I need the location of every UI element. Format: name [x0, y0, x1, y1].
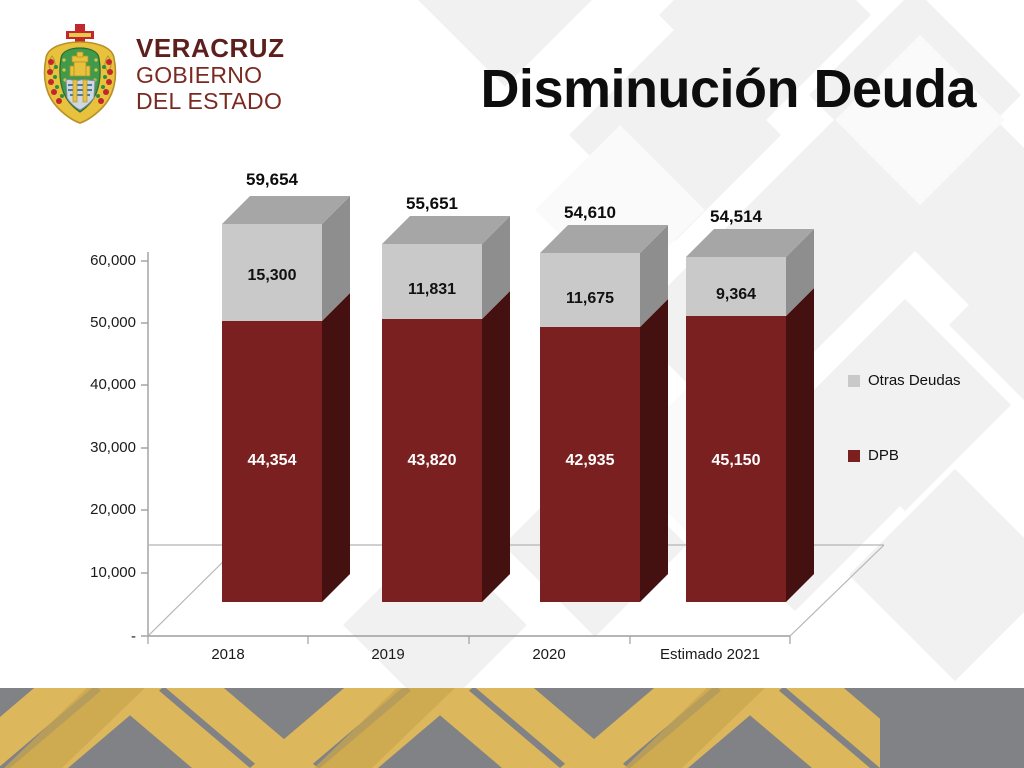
y-axis-label-zero: -: [48, 628, 136, 645]
veracruz-coat-of-arms-icon: [36, 22, 124, 126]
legend-label-dpb: DPB: [868, 447, 899, 464]
bar-total-2018: 59,654: [216, 170, 328, 190]
debt-stacked-column-chart: 60,000 50,000 40,000 30,000 20,000 10,00…: [0, 150, 1024, 670]
bar-group-2019[interactable]: [382, 216, 510, 602]
y-axis-label-10000: 10,000: [48, 564, 136, 581]
footer-decorative-band: [0, 688, 1024, 768]
x-axis-label-estimado-2021: Estimado 2021: [634, 646, 786, 663]
bar-group-2020[interactable]: [540, 225, 668, 602]
x-axis-ticks: [148, 636, 790, 644]
y-axis-label-20000: 20,000: [48, 501, 136, 518]
y-axis-ticks: [141, 261, 148, 636]
segment-label-otras-deudas-2019: 11,831: [376, 281, 488, 299]
legend-swatch-dpb: [848, 450, 860, 462]
slide-root: VERACRUZ GOBIERNO DEL ESTADO Disminución…: [0, 0, 1024, 768]
segment-label-otras-deudas-2018: 15,300: [216, 267, 328, 285]
segment-label-otras-deudas-2020: 11,675: [534, 290, 646, 308]
segment-label-dpb-2018: 44,354: [216, 452, 328, 470]
legend-label-otras-deudas: Otras Deudas: [868, 372, 961, 389]
y-axis-label-40000: 40,000: [48, 376, 136, 393]
x-axis-label-2020: 2020: [493, 646, 605, 663]
y-axis-label-60000: 60,000: [48, 252, 136, 269]
segment-label-dpb-estimado-2021: 45,150: [680, 452, 792, 470]
wordmark-line-1: VERACRUZ: [136, 35, 284, 61]
legend-item-otras-deudas[interactable]: Otras Deudas: [848, 372, 1018, 389]
segment-label-dpb-2019: 43,820: [376, 452, 488, 470]
wordmark-line-3: DEL ESTADO: [136, 90, 284, 113]
y-axis-label-50000: 50,000: [48, 314, 136, 331]
page-title: Disminución Deuda: [480, 58, 976, 120]
bar-group-2018[interactable]: [222, 196, 350, 602]
brand-wordmark: VERACRUZ GOBIERNO DEL ESTADO: [136, 35, 284, 113]
y-axis-label-30000: 30,000: [48, 439, 136, 456]
bar-total-estimado-2021: 54,514: [680, 207, 792, 227]
segment-label-dpb-2020: 42,935: [534, 452, 646, 470]
wordmark-line-2: GOBIERNO: [136, 64, 284, 87]
x-axis-label-2018: 2018: [172, 646, 284, 663]
bar-total-2019: 55,651: [376, 194, 488, 214]
bar-group-estimado-2021[interactable]: [686, 229, 814, 602]
legend-swatch-otras-deudas: [848, 375, 860, 387]
chart-legend: Otras Deudas DPB: [848, 372, 1018, 522]
legend-item-dpb[interactable]: DPB: [848, 447, 1018, 464]
brand-logo-block: VERACRUZ GOBIERNO DEL ESTADO: [36, 22, 284, 126]
segment-label-otras-deudas-estimado-2021: 9,364: [680, 286, 792, 304]
x-axis-label-2019: 2019: [332, 646, 444, 663]
bar-total-2020: 54,610: [534, 203, 646, 223]
